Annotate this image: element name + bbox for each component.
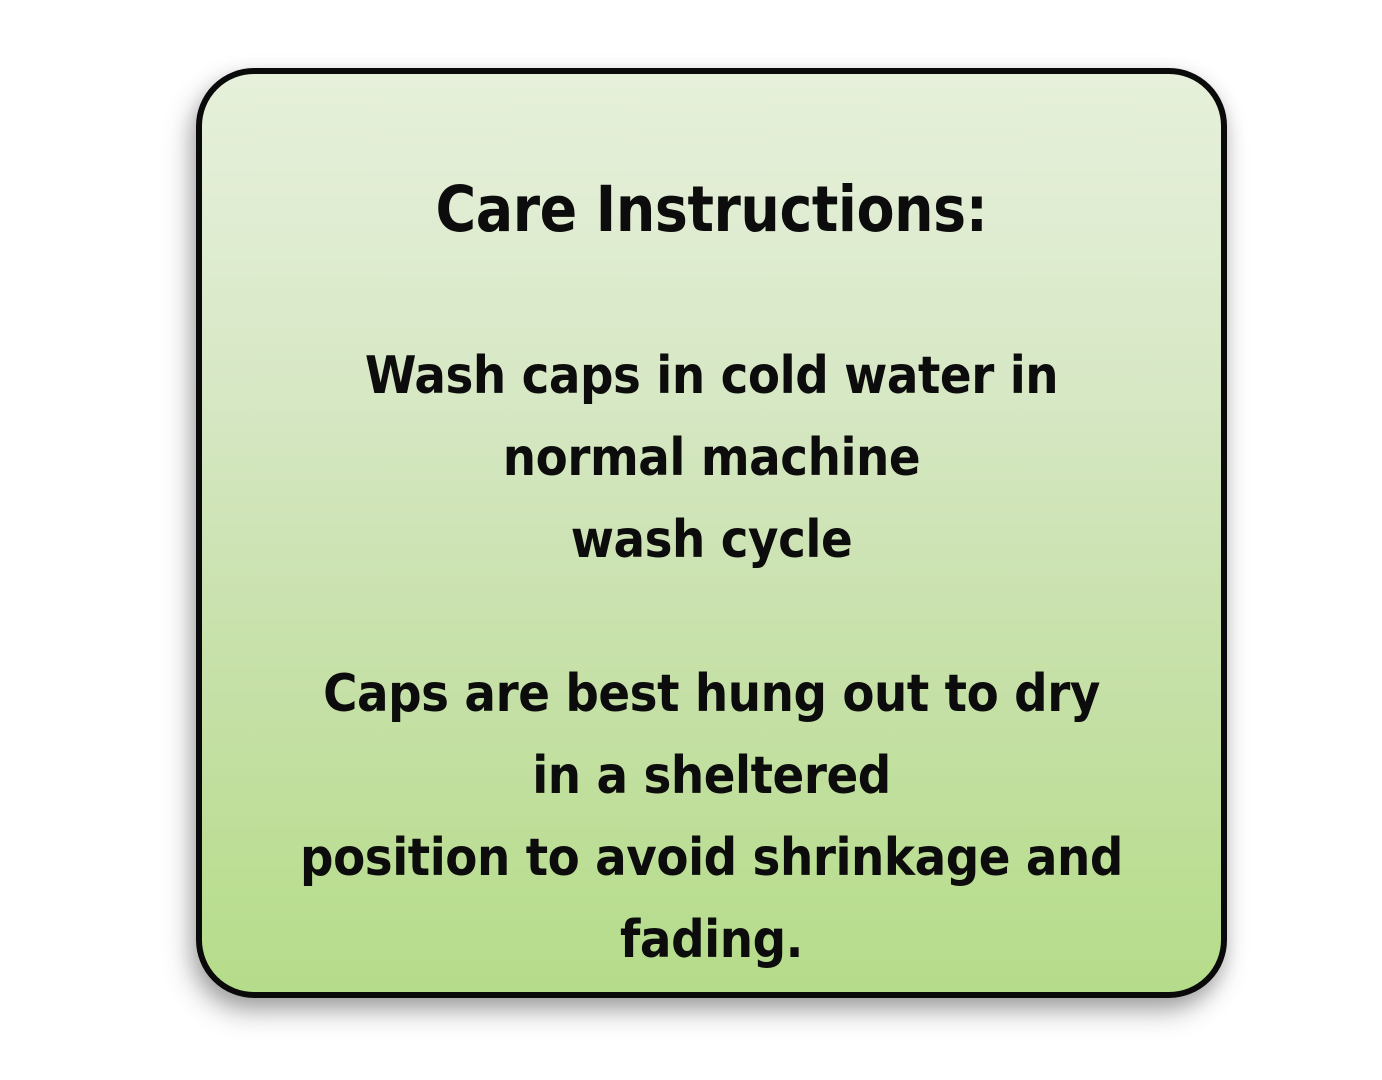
washing-instruction-line-1: Wash caps in cold water in normal machin…	[365, 346, 1058, 488]
page-canvas: Care Instructions: Wash caps in cold wat…	[0, 0, 1382, 1080]
washing-instruction-paragraph: Wash caps in cold water in normal machin…	[300, 241, 1124, 581]
drying-instruction-line-3: Best not to place in the dryer.	[324, 992, 1098, 998]
drying-instruction-paragraph: Caps are best hung out to dry in a shelt…	[300, 581, 1124, 998]
care-instructions-card: Care Instructions: Wash caps in cold wat…	[196, 68, 1227, 998]
washing-instruction-line-2: wash cycle	[571, 510, 853, 570]
card-content: Care Instructions: Wash caps in cold wat…	[202, 74, 1221, 992]
drying-instruction-line-1: Caps are best hung out to dry in a shelt…	[323, 664, 1100, 806]
page-title: Care Instructions:	[309, 74, 1114, 241]
drying-instruction-line-2: position to avoid shrinkage and fading.	[300, 828, 1123, 970]
